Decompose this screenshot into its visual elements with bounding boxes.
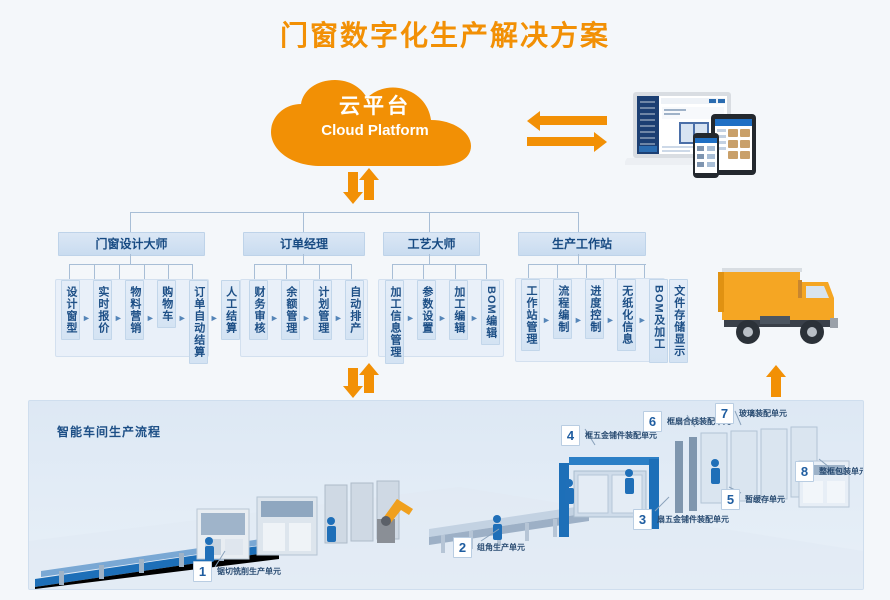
chevron-right-icon: ► xyxy=(146,313,155,323)
station-number-7: 7 xyxy=(715,403,734,424)
m2-t2 xyxy=(286,264,287,279)
station-label-5[interactable]: 5 暂缓存单元 xyxy=(721,489,785,510)
m4-t5 xyxy=(644,264,645,278)
arrow-left-shaft xyxy=(539,116,607,125)
station-text-8: 整框包装单元 xyxy=(819,466,864,477)
module-3-item-2[interactable]: 参数设置 xyxy=(417,280,436,340)
arrow-down-shaft xyxy=(348,172,358,194)
station-label-2[interactable]: 2 组角生产单元 xyxy=(453,537,525,558)
cloud-label-cn: 云平台 xyxy=(265,94,485,120)
station-text-2: 组角生产单元 xyxy=(477,542,525,553)
chevron-right-icon: ► xyxy=(406,313,415,323)
module-1-item-4[interactable]: 购物车 xyxy=(157,280,176,328)
module-2-item-3[interactable]: 计划管理 xyxy=(313,280,332,340)
module-4-item-5-line1: 文件存储显示 xyxy=(669,279,688,363)
chevron-right-icon: ► xyxy=(542,315,551,325)
m3-t1 xyxy=(392,264,393,279)
truck-icon xyxy=(700,258,860,363)
page-title: 门窗数字化生产解决方案 xyxy=(0,14,890,54)
truck-arrow-shaft xyxy=(771,375,781,397)
station-number-5: 5 xyxy=(721,489,740,510)
module-header-3[interactable]: 工艺大师 xyxy=(383,232,480,256)
module-4-item-2[interactable]: 流程编制 xyxy=(553,279,572,339)
station-text-7: 玻璃装配单元 xyxy=(739,408,787,419)
chevron-right-icon: ► xyxy=(638,315,647,325)
m1-t3 xyxy=(119,264,120,279)
m4-t2 xyxy=(557,264,558,278)
module-header-4[interactable]: 生产工作站 xyxy=(518,232,646,256)
chevron-right-icon: ► xyxy=(178,313,187,323)
delivery-truck xyxy=(700,258,860,363)
station-label-3[interactable]: 3 扇五金铺件装配单元 xyxy=(633,509,729,530)
m3-t3 xyxy=(455,264,456,279)
module-1-item-5[interactable]: 订单自动结算 xyxy=(189,280,208,364)
branch-4 xyxy=(578,212,579,232)
factory-arrow-down-shaft xyxy=(348,368,358,388)
module-body-4: 工作站管理 ► 流程编制 ► 进度控制 ► 无纸化信息 ► 文件存储显示 BOM… xyxy=(515,278,665,362)
m1-t6 xyxy=(192,264,193,279)
station-text-3: 扇五金铺件装配单元 xyxy=(657,514,729,525)
chevron-right-icon: ► xyxy=(82,313,91,323)
m3-t2 xyxy=(423,264,424,279)
factory-floor-panel: 智能车间生产流程 xyxy=(28,400,864,590)
m3-t4 xyxy=(486,264,487,279)
factory-arrow-down-head xyxy=(343,386,363,398)
m3-stem xyxy=(429,254,430,264)
cloud-label-en: Cloud Platform xyxy=(265,121,485,141)
m4-t3 xyxy=(586,264,587,278)
module-1-item-3[interactable]: 物料营销 xyxy=(125,280,144,340)
truck-arrow-head xyxy=(766,365,786,377)
module-body-2: 财务审核 ► 余额管理 ► 计划管理 ► 自动排产 xyxy=(240,279,368,357)
arrow-down-head xyxy=(343,192,363,204)
module-4-item-5-line2: BOM及加工 xyxy=(649,279,668,363)
chevron-right-icon: ► xyxy=(438,313,447,323)
m1-t4 xyxy=(144,264,145,279)
arrow-up-shaft xyxy=(364,178,374,200)
module-1-item-2[interactable]: 实时报价 xyxy=(93,280,112,340)
factory-arrow-up-shaft xyxy=(364,373,374,393)
station-label-7[interactable]: 7 玻璃装配单元 xyxy=(715,403,787,424)
chevron-right-icon: ► xyxy=(270,313,279,323)
factory-arrow-up-head xyxy=(359,363,379,375)
station-label-1[interactable]: 1 锯切铣削生产单元 xyxy=(193,561,281,582)
module-2-item-2[interactable]: 余额管理 xyxy=(281,280,300,340)
station-number-2: 2 xyxy=(453,537,472,558)
chevron-right-icon: ► xyxy=(302,313,311,323)
m1-t1 xyxy=(69,264,70,279)
module-3-item-1[interactable]: 加工信息管理 xyxy=(385,280,404,364)
chevron-right-icon: ► xyxy=(334,313,343,323)
m2-bus xyxy=(254,264,352,265)
module-3-item-4[interactable]: BOM编辑 xyxy=(481,280,500,345)
station-number-3: 3 xyxy=(633,509,652,530)
m4-t1 xyxy=(528,264,529,278)
arrow-right-shaft xyxy=(527,137,595,146)
m2-t3 xyxy=(319,264,320,279)
module-1-item-6[interactable]: 人工结算 xyxy=(221,280,240,340)
station-number-4: 4 xyxy=(561,425,580,446)
cloud-platform-node: 云平台 Cloud Platform xyxy=(265,78,485,170)
branch-1 xyxy=(130,212,131,232)
module-1-item-1[interactable]: 设计窗型 xyxy=(61,280,80,340)
m2-stem xyxy=(303,254,304,264)
m4-bus xyxy=(528,264,646,265)
station-label-8[interactable]: 8 整框包装单元 xyxy=(795,461,864,482)
station-text-5: 暂缓存单元 xyxy=(745,494,785,505)
m1-stem xyxy=(130,254,131,264)
m1-t2 xyxy=(94,264,95,279)
module-3-item-3[interactable]: 加工编辑 xyxy=(449,280,468,340)
device-mockups xyxy=(625,88,780,178)
station-number-8: 8 xyxy=(795,461,814,482)
module-4-item-4[interactable]: 无纸化信息 xyxy=(617,279,636,351)
arrow-right-head xyxy=(594,132,607,152)
m4-t4 xyxy=(615,264,616,278)
m2-t4 xyxy=(351,264,352,279)
solution-diagram: 门窗数字化生产解决方案 云平台 Cloud Platform xyxy=(0,0,890,600)
station-number-6: 6 xyxy=(643,411,662,432)
station-text-1: 锯切铣削生产单元 xyxy=(217,566,281,577)
module-2-item-1[interactable]: 财务审核 xyxy=(249,280,268,340)
cloud-platform-text: 云平台 Cloud Platform xyxy=(265,94,485,141)
module-header-1[interactable]: 门窗设计大师 xyxy=(58,232,205,256)
arrow-up-head xyxy=(359,168,379,180)
m4-stem xyxy=(578,254,579,264)
chevron-right-icon: ► xyxy=(114,313,123,323)
module-body-3: 加工信息管理 ► 参数设置 ► 加工编辑 ► BOM编辑 xyxy=(378,279,504,357)
m3-bus xyxy=(392,264,487,265)
module-4-item-5[interactable]: 文件存储显示 BOM及加工 xyxy=(649,279,688,363)
chevron-right-icon: ► xyxy=(470,313,479,323)
devices-illustration xyxy=(625,88,780,178)
module-4-item-3[interactable]: 进度控制 xyxy=(585,279,604,339)
chevron-right-icon: ► xyxy=(606,315,615,325)
station-number-1: 1 xyxy=(193,561,212,582)
module-body-1: 设计窗型 ► 实时报价 ► 物料营销 ► 购物车 ► 订单自动结算 ► 人工结算 xyxy=(55,279,209,357)
m1-bus xyxy=(69,264,192,265)
m1-t5 xyxy=(168,264,169,279)
chevron-right-icon: ► xyxy=(574,315,583,325)
module-2-item-4[interactable]: 自动排产 xyxy=(345,280,364,340)
chevron-right-icon: ► xyxy=(210,313,219,323)
branch-3 xyxy=(429,212,430,232)
m2-t1 xyxy=(254,264,255,279)
module-4-item-1[interactable]: 工作站管理 xyxy=(521,279,540,351)
module-header-2[interactable]: 订单经理 xyxy=(243,232,365,256)
module-bus-line xyxy=(130,212,578,213)
branch-2 xyxy=(303,212,304,232)
